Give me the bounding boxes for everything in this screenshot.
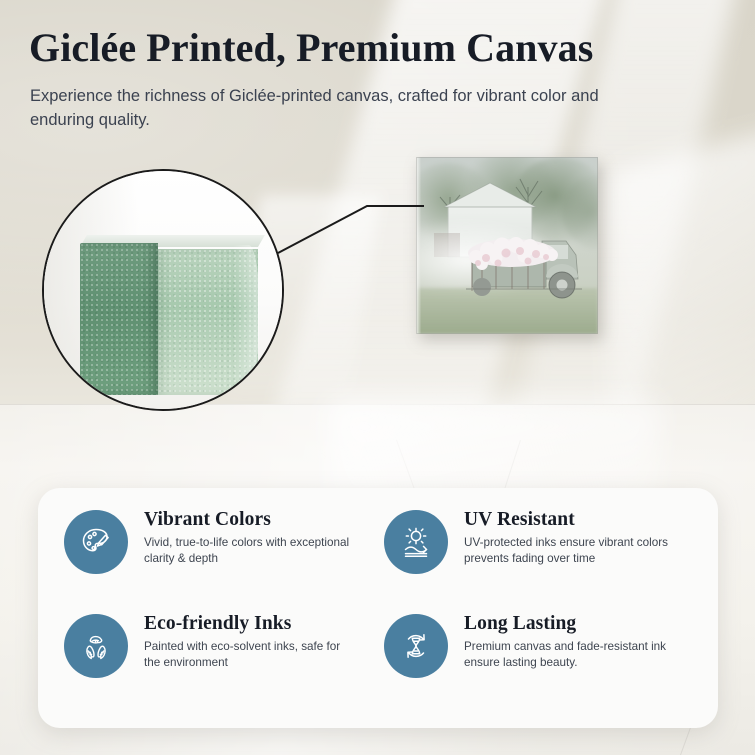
feature-long-lasting[interactable]: Long Lasting Premium canvas and fade-res… [384,610,704,714]
product-feature-banner: Giclée Printed, Premium Canvas Experienc… [0,0,755,755]
feature-title: UV Resistant [464,508,679,531]
canvas-edge-highlight [233,245,259,381]
feature-title: Long Lasting [464,612,679,635]
feature-title: Eco-friendly Inks [144,612,359,635]
canvas-texture-loupe [42,169,284,411]
feature-vibrant-colors[interactable]: Vibrant Colors Vivid, true-to-life color… [64,506,384,610]
sun-uv-icon [384,510,448,574]
feature-uv-resistant[interactable]: UV Resistant UV-protected inks ensure vi… [384,506,704,610]
feature-text: UV Resistant UV-protected inks ensure vi… [464,506,679,567]
palette-icon [64,510,128,574]
feature-description: UV-protected inks ensure vibrant colors … [464,535,679,567]
feature-title: Vibrant Colors [144,508,359,531]
feature-eco-friendly-inks[interactable]: Eco-friendly Inks Painted with eco-solve… [64,610,384,714]
feature-description: Vivid, true-to-life colors with exceptio… [144,535,359,567]
canvas-side-face [80,243,158,395]
hourglass-refresh-icon [384,614,448,678]
feature-panel: Vibrant Colors Vivid, true-to-life color… [38,488,718,728]
canvas-corner-sample [80,235,258,395]
page-title: Giclée Printed, Premium Canvas [29,25,669,71]
feature-text: Eco-friendly Inks Painted with eco-solve… [144,610,359,671]
feature-description: Painted with eco-solvent inks, safe for … [144,639,359,671]
feature-grid: Vibrant Colors Vivid, true-to-life color… [38,488,718,728]
artwork-scene [416,157,598,334]
canvas-artwork [416,157,598,334]
artwork-border [416,157,598,334]
feature-text: Long Lasting Premium canvas and fade-res… [464,610,679,671]
feature-description: Premium canvas and fade-resistant ink en… [464,639,679,671]
feature-text: Vibrant Colors Vivid, true-to-life color… [144,506,359,567]
page-subtitle: Experience the richness of Giclée-printe… [30,85,650,133]
eco-leaves-icon [64,614,128,678]
